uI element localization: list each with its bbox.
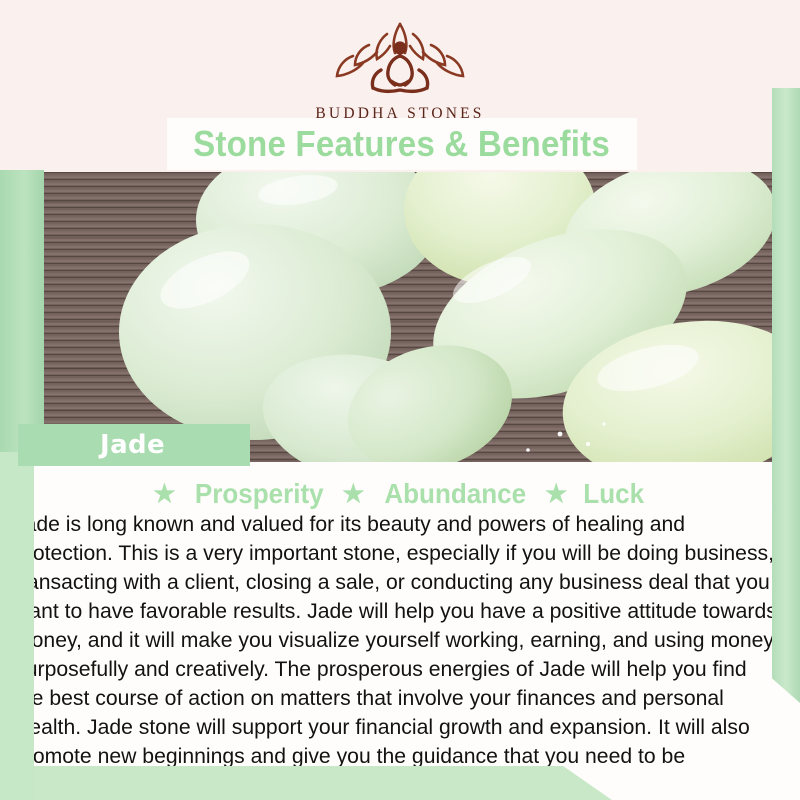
star-icon: ★ <box>342 482 364 507</box>
star-icon: ★ <box>153 482 175 507</box>
stone-name-badge: Jade <box>18 424 250 466</box>
brand-logo: BUDDHA STONES <box>0 18 800 123</box>
title-banner: Stone Features & Benefits <box>167 118 637 170</box>
benefit-abundance: Abundance <box>384 478 526 510</box>
lotus-meditation-icon <box>325 18 475 101</box>
benefit-luck: Luck <box>584 478 645 510</box>
stone-info-poster: BUDDHA STONES Stone Features & Benefits <box>0 0 800 800</box>
decor-stripe-right <box>772 88 800 703</box>
benefit-prosperity: Prosperity <box>194 478 323 510</box>
stone-photo <box>0 172 800 462</box>
star-icon: ★ <box>545 482 567 507</box>
stone-content: ★ Prosperity ★ Abundance ★ Luck Jade is … <box>0 462 800 800</box>
decor-band-bottom <box>0 766 612 800</box>
stone-description: Jade is long known and valued for its be… <box>14 510 780 800</box>
stone-name: Jade <box>100 430 165 460</box>
decor-stripe-left-lower <box>0 452 34 800</box>
page-title: Stone Features & Benefits <box>194 123 611 165</box>
benefits-row: ★ Prosperity ★ Abundance ★ Luck <box>0 478 800 510</box>
